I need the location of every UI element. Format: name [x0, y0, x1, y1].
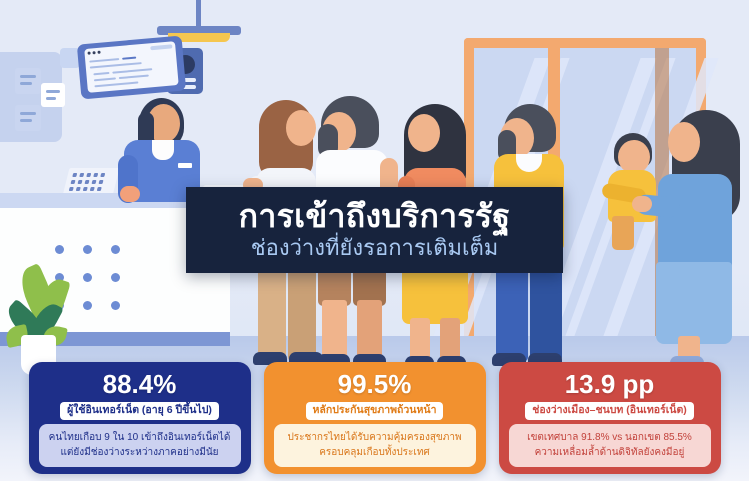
wall-screen — [77, 36, 186, 100]
leg-skin — [322, 300, 347, 362]
keyboard — [63, 168, 120, 196]
title-banner: การเข้าถึงบริการรัฐ ช่องว่างที่ยังรอการเ… — [186, 187, 563, 273]
badge — [178, 163, 192, 168]
stat-description-line-2: ความเหลื่อมล้ำด้านดิจิทัลยังคงมีอยู่ — [515, 445, 705, 461]
stat-value: 88.4% — [103, 371, 177, 398]
stat-description-line-1: คนไทยเกือบ 9 ใน 10 เข้าถึงอินเทอร์เน็ตได… — [45, 430, 235, 446]
skirt — [656, 262, 732, 344]
page-subtitle: ช่องว่างที่ยังรอการเติมเต็ม — [251, 235, 499, 260]
infographic-poster: การเข้าถึงบริการรัฐ ช่องว่างที่ยังรอการเ… — [0, 0, 749, 481]
head — [408, 114, 440, 152]
leg-skin — [357, 300, 382, 362]
hand — [632, 196, 652, 212]
wall-note — [41, 83, 65, 107]
stat-label-chip: ช่องว่างเมือง–ชนบท (อินเทอร์เน็ต) — [525, 402, 694, 420]
stat-value: 13.9 pp — [565, 371, 655, 398]
stat-description-line-2: แต่ยังมีช่องว่างระหว่างภาคอย่างมีนัย — [45, 445, 235, 461]
stat-card-urban-rural-gap: 13.9 pp ช่องว่างเมือง–ชนบท (อินเทอร์เน็ต… — [499, 362, 721, 474]
head — [618, 140, 650, 174]
screen-titlebar — [150, 44, 172, 50]
stat-description-line-1: เขตเทศบาล 91.8% vs นอกเขต 85.5% — [515, 430, 705, 446]
head — [668, 122, 700, 162]
lamp-rod — [196, 0, 201, 28]
page-title: การเข้าถึงบริการรัฐ — [239, 200, 511, 234]
window-dots-icon — [87, 51, 100, 55]
stat-description-line-1: ประชากรไทยได้รับความคุ้มครองสุขภาพ — [280, 430, 470, 446]
head — [286, 110, 316, 146]
torso — [658, 174, 732, 270]
stat-card-health-coverage: 99.5% หลักประกันสุขภาพถ้วนหน้า ประชากรไท… — [264, 362, 486, 474]
stat-cards-row: 88.4% ผู้ใช้อินเทอร์เน็ต (อายุ 6 ปีขึ้นไ… — [0, 362, 749, 474]
collar — [152, 140, 174, 160]
stat-value: 99.5% — [338, 371, 412, 398]
leg — [612, 216, 634, 250]
stat-description: คนไทยเกือบ 9 ใน 10 เข้าถึงอินเทอร์เน็ตได… — [39, 424, 241, 467]
screen-content — [84, 41, 178, 93]
stat-description: ประชากรไทยได้รับความคุ้มครองสุขภาพ ครอบค… — [274, 424, 476, 467]
hand — [120, 186, 140, 202]
stat-card-internet-users: 88.4% ผู้ใช้อินเทอร์เน็ต (อายุ 6 ปีขึ้นไ… — [29, 362, 251, 474]
wall-note — [15, 68, 41, 94]
stat-label-chip: หลักประกันสุขภาพถ้วนหน้า — [306, 402, 444, 420]
stat-description-line-2: ครอบคลุมเกือบทั้งประเทศ — [280, 445, 470, 461]
stat-label-chip: ผู้ใช้อินเทอร์เน็ต (อายุ 6 ปีขึ้นไป) — [60, 402, 219, 420]
wall-note — [15, 105, 41, 131]
stat-description: เขตเทศบาล 91.8% vs นอกเขต 85.5% ความเหลื… — [509, 424, 711, 467]
